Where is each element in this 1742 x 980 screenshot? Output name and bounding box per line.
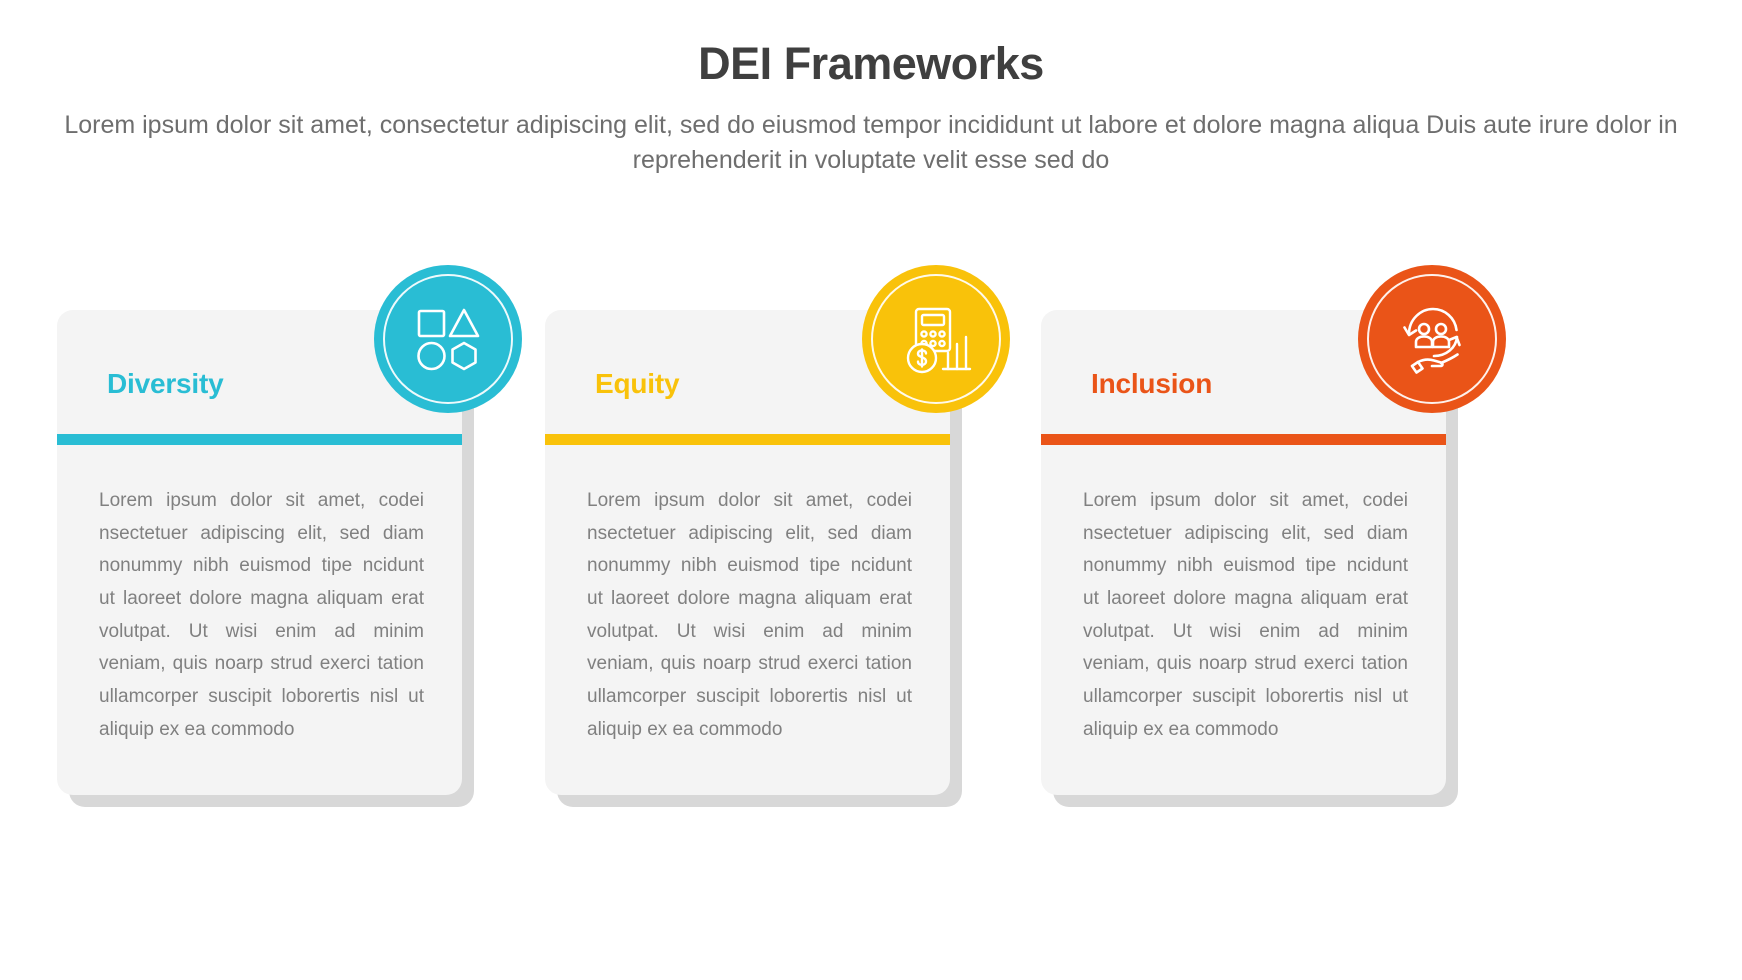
badge-equity[interactable] — [862, 265, 1010, 413]
card-equity[interactable]: Equity Lorem ipsum dolor sit amet, codei… — [545, 310, 950, 795]
card-inclusion[interactable]: Inclusion Lorem ipsum dolor sit amet, co… — [1041, 310, 1446, 795]
card-diversity[interactable]: Diversity Lorem ipsum dolor sit amet, co… — [57, 310, 462, 795]
card-title: Diversity — [107, 368, 224, 400]
cards-row: Diversity Lorem ipsum dolor sit amet, co… — [0, 310, 1742, 830]
card-title: Equity — [595, 368, 679, 400]
card-body-text: Lorem ipsum dolor sit amet, codei nsecte… — [99, 485, 424, 746]
card-body-text: Lorem ipsum dolor sit amet, codei nsecte… — [1083, 485, 1408, 746]
card-title: Inclusion — [1091, 368, 1212, 400]
card-accent-bar — [57, 434, 462, 445]
infographic-page: DEI Frameworks Lorem ipsum dolor sit ame… — [0, 0, 1742, 980]
header: DEI Frameworks Lorem ipsum dolor sit ame… — [0, 38, 1742, 179]
badge-inclusion[interactable] — [1358, 265, 1506, 413]
shapes-icon — [412, 303, 484, 375]
card-accent-bar — [545, 434, 950, 445]
calculator-chart-money-icon — [900, 303, 972, 375]
page-title: DEI Frameworks — [0, 38, 1742, 90]
card-body-text: Lorem ipsum dolor sit amet, codei nsecte… — [587, 485, 912, 746]
badge-diversity[interactable] — [374, 265, 522, 413]
page-subtitle: Lorem ipsum dolor sit amet, consectetur … — [61, 108, 1681, 179]
card-accent-bar — [1041, 434, 1446, 445]
people-hand-cycle-icon — [1396, 303, 1468, 375]
